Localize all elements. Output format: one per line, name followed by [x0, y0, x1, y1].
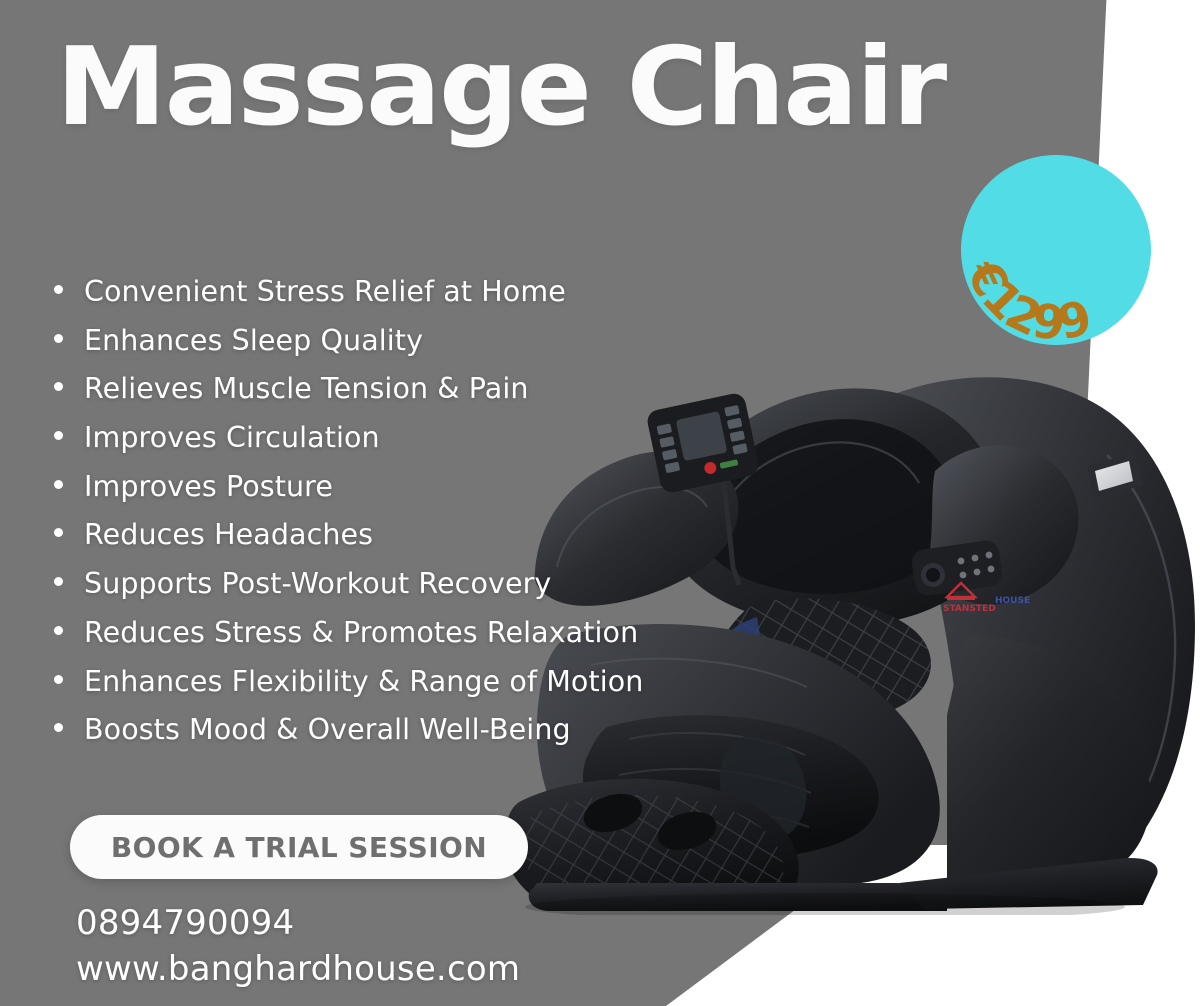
- benefit-item: Reduces Headaches: [54, 518, 643, 567]
- bullet-dot-icon: [54, 285, 63, 294]
- benefit-label: Convenient Stress Relief at Home: [84, 275, 566, 308]
- benefit-label: Enhances Sleep Quality: [84, 324, 423, 357]
- svg-text:€1299: €1299: [955, 252, 1096, 352]
- benefit-label: Reduces Stress & Promotes Relaxation: [84, 616, 638, 649]
- book-trial-session-label: BOOK A TRIAL SESSION: [111, 831, 487, 864]
- book-trial-session-button[interactable]: BOOK A TRIAL SESSION: [70, 815, 528, 879]
- benefit-label: Enhances Flexibility & Range of Motion: [84, 665, 643, 698]
- benefit-label: Improves Posture: [84, 470, 333, 503]
- bullet-dot-icon: [54, 723, 63, 732]
- bullet-dot-icon: [54, 431, 63, 440]
- contact-info: 0894790094 www.banghardhouse.com: [76, 900, 520, 992]
- bullet-dot-icon: [54, 675, 63, 684]
- price-badge-text: €1299: [961, 155, 1151, 345]
- benefit-label: Boosts Mood & Overall Well-Being: [84, 713, 571, 746]
- benefit-label: Supports Post-Workout Recovery: [84, 567, 551, 600]
- benefit-item: Boosts Mood & Overall Well-Being: [54, 713, 643, 762]
- remote-screen: [676, 411, 728, 461]
- benefit-item: Improves Posture: [54, 470, 643, 519]
- bullet-dot-icon: [54, 480, 63, 489]
- bullet-dot-icon: [54, 626, 63, 635]
- website-url[interactable]: www.banghardhouse.com: [76, 946, 520, 992]
- brand-badge-text-blue: HOUSE: [995, 596, 1030, 606]
- bullet-dot-icon: [54, 382, 63, 391]
- advertisement-poster: €1299: [0, 0, 1200, 1006]
- price-value: €1299: [955, 252, 1096, 352]
- benefit-item: Reduces Stress & Promotes Relaxation: [54, 616, 643, 665]
- benefit-label: Relieves Muscle Tension & Pain: [84, 372, 529, 405]
- bullet-dot-icon: [54, 528, 63, 537]
- bullet-dot-icon: [54, 577, 63, 586]
- phone-number[interactable]: 0894790094: [76, 900, 520, 946]
- price-badge: €1299: [961, 155, 1151, 345]
- brand-badge-text-red: STANSTED: [943, 604, 996, 614]
- benefit-item: Convenient Stress Relief at Home: [54, 275, 643, 324]
- benefit-item: Enhances Flexibility & Range of Motion: [54, 665, 643, 714]
- benefit-item: Enhances Sleep Quality: [54, 324, 643, 373]
- benefit-item: Improves Circulation: [54, 421, 643, 470]
- benefit-label: Improves Circulation: [84, 421, 380, 454]
- benefit-label: Reduces Headaches: [84, 518, 373, 551]
- benefit-item: Supports Post-Workout Recovery: [54, 567, 643, 616]
- benefits-list: Convenient Stress Relief at Home Enhance…: [54, 275, 643, 762]
- benefit-item: Relieves Muscle Tension & Pain: [54, 372, 643, 421]
- bullet-dot-icon: [54, 334, 63, 343]
- brand-badge-base: [947, 597, 975, 600]
- page-title: Massage Chair: [56, 34, 945, 142]
- control-pad-knob-center: [926, 568, 940, 582]
